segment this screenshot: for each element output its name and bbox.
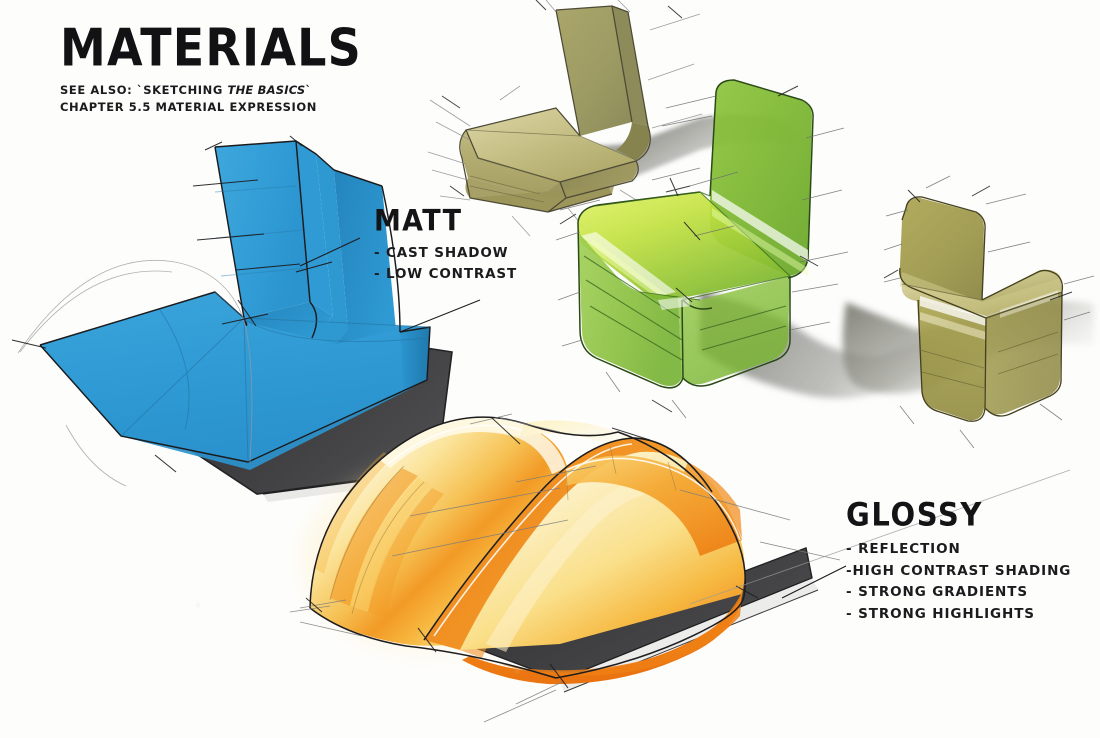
glossy-bullet: - STRONG GRADIENTS [846,582,1071,604]
glossy-bullet: -HIGH CONTRAST SHADING [846,561,1071,583]
glossy-bullet: - REFLECTION [846,539,1071,561]
subtitle-suffix: ˋ [305,83,311,97]
title-block: MATERIALS SEE ALSO: ˋSKETCHING THE BASIC… [60,22,362,116]
matt-bullet-list: - CAST SHADOW - LOW CONTRAST [374,243,517,284]
sketch-olive-glossy-chair [843,176,1094,448]
matt-bullet: - LOW CONTRAST [374,264,517,285]
subtitle-line-2: CHAPTER 5.5 MATERIAL EXPRESSION [60,99,362,116]
glossy-annotation-block: GLOSSY - REFLECTION -HIGH CONTRAST SHADI… [846,498,1071,625]
matt-annotation-block: MATT - CAST SHADOW - LOW CONTRAST [374,205,517,284]
matt-heading: MATT [374,205,517,238]
subtitle-block: SEE ALSO: ˋSKETCHING THE BASICSˋ CHAPTER… [60,82,362,116]
matt-leader-line-2 [400,300,480,332]
subtitle-italic-ref: THE BASICS [228,83,306,97]
matt-bullet: - CAST SHADOW [374,243,517,264]
sketch-blue-matt-lounge-chair [12,136,452,502]
subtitle-line-1: SEE ALSO: ˋSKETCHING THE BASICSˋ [60,82,362,99]
glossy-bullet: - STRONG HIGHLIGHTS [846,604,1071,626]
page-title: MATERIALS [60,22,362,74]
glossy-heading: GLOSSY [846,498,1071,531]
sketch-page: MATERIALS SEE ALSO: ˋSKETCHING THE BASIC… [0,0,1100,738]
subtitle-prefix: SEE ALSO: ˋSKETCHING [60,83,228,97]
glossy-bullet-list: - REFLECTION -HIGH CONTRAST SHADING - ST… [846,539,1071,625]
